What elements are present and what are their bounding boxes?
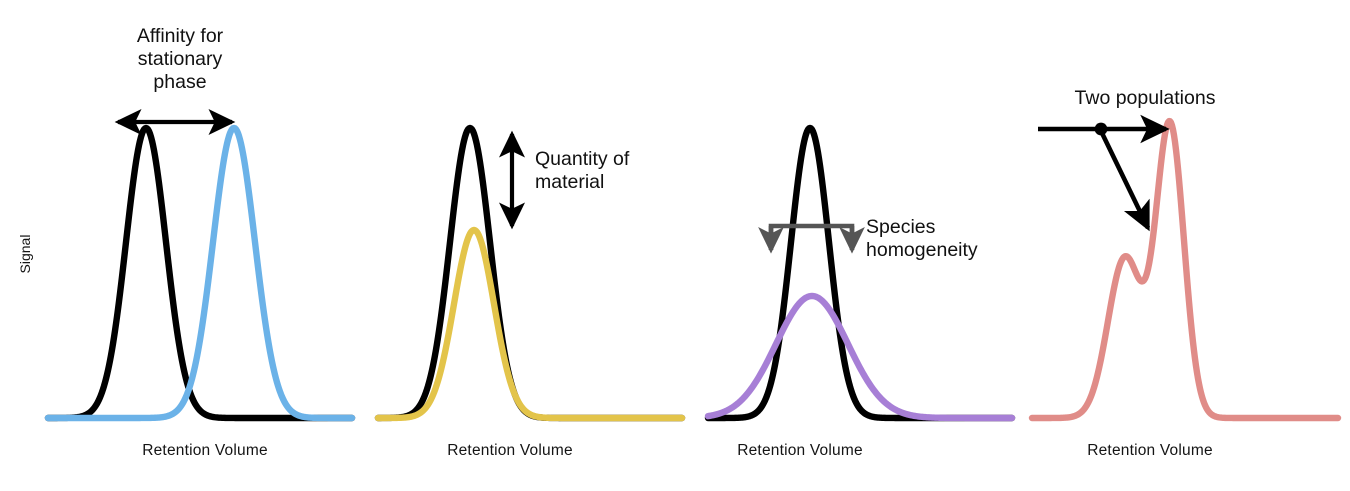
panel-two-populations: Two populations Retention Volume [1020, 0, 1350, 491]
y-axis-label: Signal [17, 209, 33, 299]
x-axis-label-panel-1: Retention Volume [100, 442, 310, 460]
annotation-two-populations: Two populations [1020, 87, 1270, 110]
x-axis-label-panel-4: Retention Volume [1045, 442, 1255, 460]
annotation-homogeneity: Species homogeneity [866, 216, 1036, 262]
annotation-quantity: Quantity of material [535, 148, 685, 194]
x-axis-label-panel-3: Retention Volume [695, 442, 905, 460]
panel-quantity: Quantity of material Retention Volume [370, 0, 690, 491]
panel-homogeneity: Species homogeneity Retention Volume [700, 0, 1020, 491]
panel-affinity: Affinity for stationary phase Retention … [40, 0, 360, 491]
chromatography-figure: Signal Affinity for stationary phase Ret… [0, 0, 1350, 491]
x-axis-label-panel-2: Retention Volume [405, 442, 615, 460]
annotation-affinity: Affinity for stationary phase [95, 25, 265, 94]
